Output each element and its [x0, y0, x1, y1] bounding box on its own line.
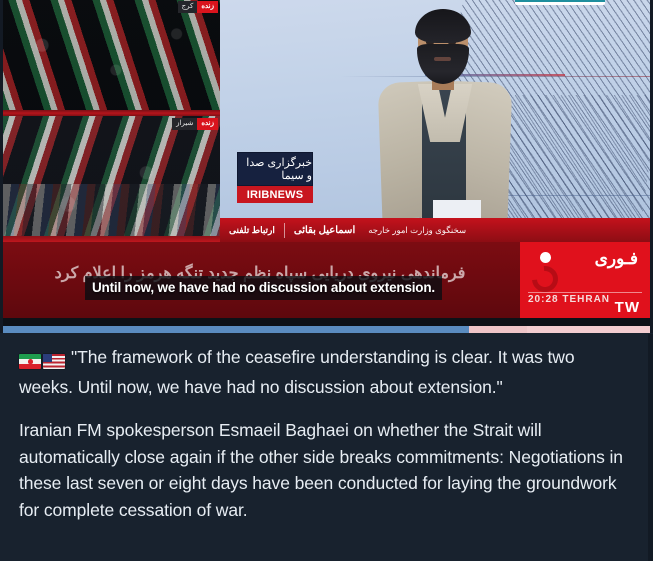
beard [417, 44, 469, 84]
urgent-divider [528, 292, 642, 293]
broadcast-timestamp: 20:28 TEHRAN [528, 294, 610, 305]
live-panel-shiraz [3, 116, 220, 242]
quote-text: "The framework of the ceasefire understa… [19, 347, 574, 397]
quote-paragraph: "The framework of the ceasefire understa… [19, 344, 626, 400]
video-subtitle: Until now, we have had no discussion abo… [85, 276, 442, 300]
live-panels-column: زنده كرج زنده شیراز [3, 0, 220, 242]
lower-third-divider [284, 223, 285, 238]
studio-shot: خبرگزاری صدا و سیما IRIBNEWS [220, 0, 650, 218]
guest-role: سخنگوی وزارت امور خارجه [364, 225, 470, 236]
page-right-edge [648, 334, 653, 561]
live-badge-label: زنده [197, 1, 218, 13]
live-tag-shiraz: زنده شیراز [172, 118, 218, 130]
paragraph-gap [19, 400, 626, 417]
irib-logo-script: خبرگزاری صدا و سیما [237, 152, 313, 186]
video-frame[interactable]: زنده كرج زنده شیراز [3, 0, 650, 318]
irib-logo-text: IRIBNEWS [237, 186, 313, 203]
flag-iran-icon [19, 354, 41, 369]
urgent-label: فـوری [595, 249, 638, 269]
mouth [434, 57, 451, 61]
city-label-shiraz: شیراز [172, 118, 197, 130]
connection-label: ارتباط تلفنی [220, 225, 284, 236]
post-body: "The framework of the ceasefire understa… [0, 334, 648, 561]
live-tag-karaj: زنده كرج [178, 1, 218, 13]
urgent-breaking-block: فـوری 20:28 TEHRAN TW [520, 242, 650, 318]
desk [433, 200, 481, 218]
presenter-figure [370, 0, 520, 218]
live-badge-label: زنده [197, 118, 218, 130]
lower-third-bar: ارتباط تلفنی اسماعیل بقائی سخنگوی وزارت … [220, 218, 650, 242]
live-panel-karaj [3, 0, 220, 113]
video-player[interactable]: زنده كرج زنده شیراز [0, 0, 653, 334]
guest-name: اسماعیل بقائی [285, 225, 364, 236]
hair [415, 9, 471, 43]
context-paragraph: Iranian FM spokesperson Esmaeil Baghaei … [19, 417, 626, 523]
flag-united-states-icon [43, 354, 65, 369]
irib-news-logo: خبرگزاری صدا و سیما IRIBNEWS [237, 152, 313, 203]
progress-played[interactable] [3, 326, 469, 333]
recording-dot-icon [540, 252, 551, 263]
watermark-label: TW [615, 299, 640, 316]
flag-group [19, 347, 67, 374]
top-overlay-banner-icon [515, 0, 605, 5]
page-root: زنده كرج زنده شیراز [0, 0, 653, 561]
city-label-karaj: كرج [178, 1, 198, 13]
video-progress-bar[interactable] [3, 326, 650, 333]
